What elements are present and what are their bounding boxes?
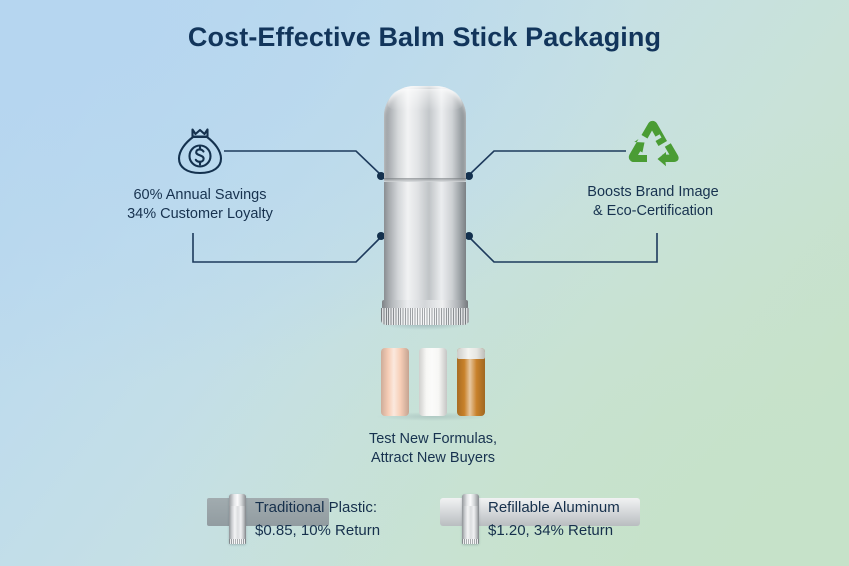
left-callout-text: 60% Annual Savings 34% Customer Loyalty — [72, 186, 328, 224]
amber-tube-cap — [457, 348, 485, 359]
refillable-aluminum-label: Refillable Aluminum — [488, 497, 620, 520]
refillable-aluminum-value: $1.20, 34% Return — [488, 520, 620, 543]
stick-knurled-base — [381, 308, 469, 325]
left-callout-line-1: 60% Annual Savings — [72, 186, 328, 205]
tubes-caption: Test New Formulas, Attract New Buyers — [313, 430, 553, 469]
recycle-icon — [620, 118, 684, 178]
connector-upper-right — [469, 151, 626, 175]
refillable-aluminum-stick-icon — [462, 494, 479, 544]
refillable-aluminum-text: Refillable Aluminum $1.20, 34% Return — [488, 497, 620, 542]
right-callout-line-1: Boosts Brand Image — [525, 183, 781, 202]
traditional-plastic-text: Traditional Plastic: $0.85, 10% Return — [255, 497, 380, 542]
money-bag-icon — [172, 124, 228, 180]
connector-lower-left — [193, 233, 381, 262]
tubes-caption-line-2: Attract New Buyers — [313, 449, 553, 468]
traditional-plastic-stick-icon — [229, 494, 246, 544]
right-callout-line-2: & Eco-Certification — [525, 202, 781, 221]
formula-tubes-group — [381, 348, 485, 416]
comparison-traditional-plastic: Traditional Plastic: $0.85, 10% Return — [207, 492, 437, 554]
peach-formula-tube — [381, 348, 409, 416]
amber-formula-tube — [457, 348, 485, 416]
stick-body — [384, 182, 466, 304]
connector-lower-right — [469, 233, 657, 262]
comparison-refillable-aluminum: Refillable Aluminum $1.20, 34% Return — [440, 492, 680, 554]
infographic-canvas: Cost-Effective Balm Stick Packaging — [0, 0, 849, 566]
stick-cap — [384, 86, 466, 182]
right-callout-text: Boosts Brand Image & Eco-Certification — [525, 183, 781, 221]
left-callout-line-2: 34% Customer Loyalty — [72, 205, 328, 224]
traditional-plastic-value: $0.85, 10% Return — [255, 520, 380, 543]
white-formula-tube — [419, 348, 447, 416]
traditional-plastic-label: Traditional Plastic: — [255, 497, 380, 520]
connector-upper-left — [224, 151, 381, 175]
tubes-caption-line-1: Test New Formulas, — [313, 430, 553, 449]
main-balm-stick-image — [381, 86, 469, 326]
